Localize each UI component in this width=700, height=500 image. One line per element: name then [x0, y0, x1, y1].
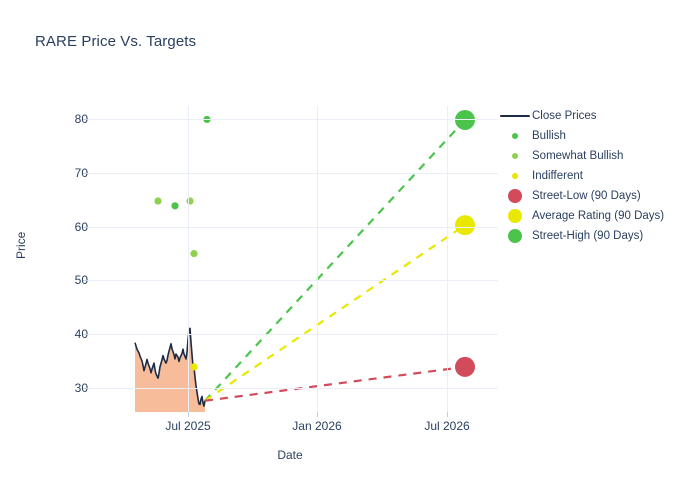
legend-swatch-dot: [498, 153, 532, 159]
legend-dot-swatch: [512, 173, 518, 179]
x-axis-tick-label: Jul 2025: [143, 419, 233, 433]
x-axis-title: Date: [0, 448, 580, 462]
x-axis-tick-label: Jan 2026: [272, 419, 362, 433]
gridline-vertical: [447, 106, 448, 412]
target-trend-line: [205, 225, 465, 401]
price-vs-targets-chart: RARE Price Vs. Targets Price 30405060708…: [0, 0, 700, 500]
y-axis-tick-label: 60: [44, 220, 88, 234]
plot-canvas: [88, 106, 498, 412]
legend-item-label: Street-High (90 Days): [532, 230, 643, 242]
legend-item-label: Close Prices: [532, 110, 597, 122]
y-axis-tick-label: 40: [44, 327, 88, 341]
legend-item[interactable]: Indifferent: [498, 166, 698, 186]
x-axis-tick-mark: [447, 412, 448, 417]
target-price-marker[interactable]: [455, 215, 475, 235]
legend-dot-swatch: [512, 153, 518, 159]
chart-legend: Close PricesBullishSomewhat BullishIndif…: [498, 106, 698, 246]
legend-dot-swatch: [512, 133, 518, 139]
y-axis-tick-label: 70: [44, 166, 88, 180]
gridline-horizontal: [88, 334, 498, 335]
y-axis-tick-label: 50: [44, 273, 88, 287]
rating-point-marker[interactable]: [154, 197, 161, 204]
y-axis-tick-label: 30: [44, 381, 88, 395]
rating-point-marker[interactable]: [171, 202, 178, 209]
legend-item-label: Average Rating (90 Days): [532, 210, 664, 222]
rating-point-marker[interactable]: [190, 363, 197, 370]
legend-line-swatch: [500, 115, 530, 118]
legend-item[interactable]: Close Prices: [498, 106, 698, 126]
y-axis-tick-label: 80: [44, 112, 88, 126]
legend-item-label: Somewhat Bullish: [532, 150, 623, 162]
page-title: RARE Price Vs. Targets: [35, 33, 196, 50]
y-axis-title: Price: [14, 232, 28, 259]
legend-item[interactable]: Street-Low (90 Days): [498, 186, 698, 206]
plot-area: [88, 106, 498, 412]
legend-swatch-dot: [498, 229, 532, 243]
gridline-horizontal: [88, 280, 498, 281]
legend-swatch-line: [498, 115, 532, 118]
legend-item-label: Indifferent: [532, 170, 583, 182]
gridline-horizontal: [88, 388, 498, 389]
legend-item-label: Bullish: [532, 130, 566, 142]
legend-swatch-dot: [498, 133, 532, 139]
target-price-marker[interactable]: [455, 357, 475, 377]
gridline-vertical: [317, 106, 318, 412]
legend-item-label: Street-Low (90 Days): [532, 190, 641, 202]
x-axis-tick-mark: [188, 412, 189, 417]
legend-item[interactable]: Average Rating (90 Days): [498, 206, 698, 226]
gridline-vertical: [188, 106, 189, 412]
legend-item[interactable]: Somewhat Bullish: [498, 146, 698, 166]
legend-dot-swatch: [508, 189, 522, 203]
gridline-horizontal: [88, 173, 498, 174]
legend-item[interactable]: Street-High (90 Days): [498, 226, 698, 246]
target-trend-line: [205, 120, 465, 401]
legend-item[interactable]: Bullish: [498, 126, 698, 146]
legend-swatch-dot: [498, 189, 532, 203]
legend-dot-swatch: [508, 209, 522, 223]
legend-swatch-dot: [498, 209, 532, 223]
legend-swatch-dot: [498, 173, 532, 179]
x-axis-tick-mark: [317, 412, 318, 417]
gridline-horizontal: [88, 119, 498, 120]
gridline-horizontal: [88, 227, 498, 228]
x-axis-tick-label: Jul 2026: [402, 419, 492, 433]
legend-dot-swatch: [508, 229, 522, 243]
target-trend-line: [205, 367, 465, 401]
rating-point-marker[interactable]: [190, 250, 197, 257]
